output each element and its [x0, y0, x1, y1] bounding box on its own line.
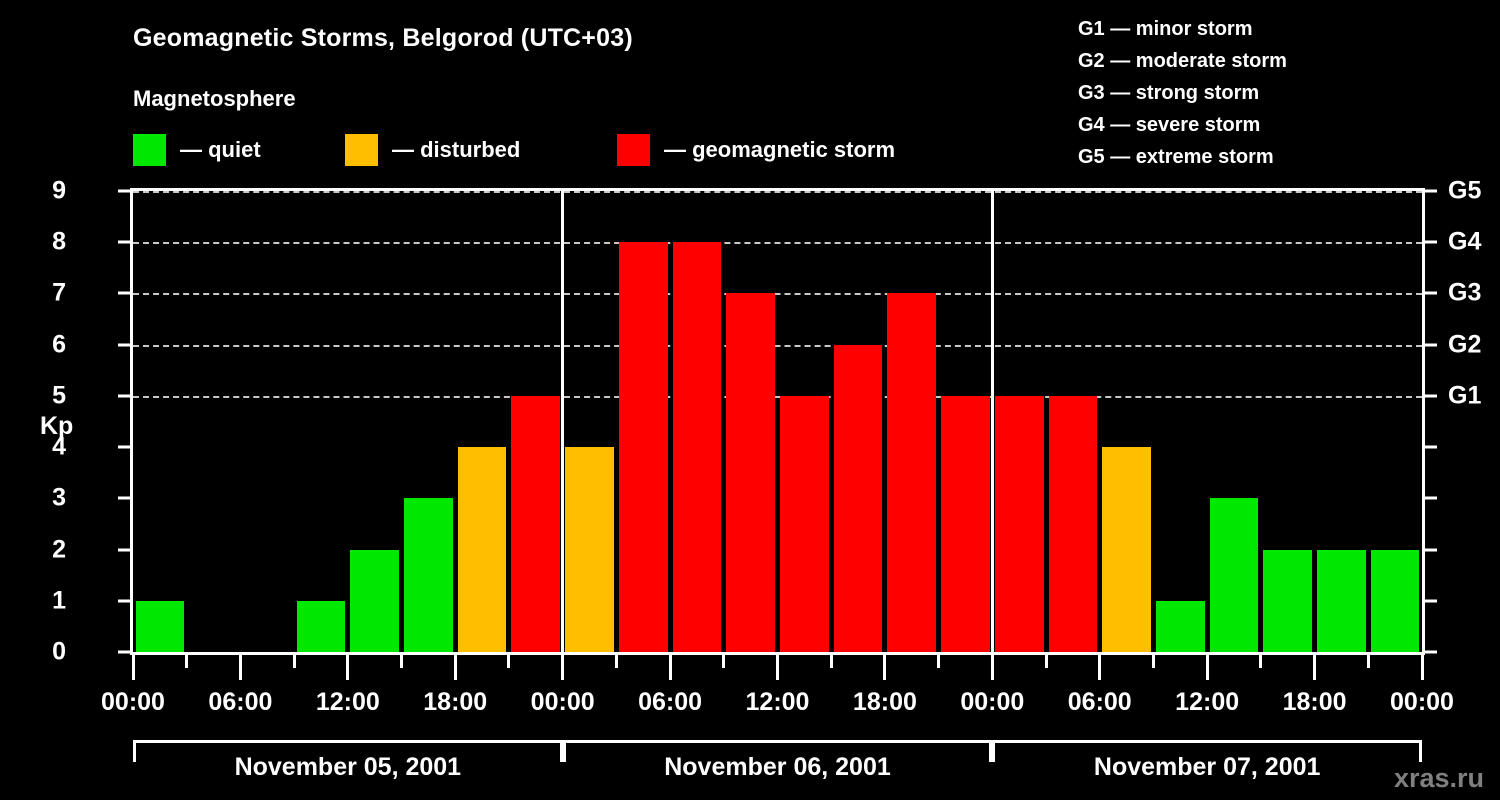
legend-swatch-disturbed [345, 134, 378, 166]
day-label: November 06, 2001 [664, 753, 891, 782]
y-tick-mark-5 [118, 394, 130, 397]
bar [1102, 447, 1151, 652]
day-divider [991, 191, 994, 652]
x-tick [561, 655, 564, 680]
x-tick-label: 18:00 [423, 688, 487, 717]
bar [995, 396, 1044, 652]
page-title: Geomagnetic Storms, Belgorod (UTC+03) [133, 24, 633, 53]
plot-inner [133, 191, 1422, 652]
x-tick [669, 655, 672, 680]
x-tick [1313, 655, 1316, 680]
bar [834, 345, 883, 652]
x-tick [293, 655, 296, 668]
y-tick-mark-1 [118, 599, 130, 602]
g-scale-legend: G1 — minor stormG2 — moderate stormG3 — … [1078, 13, 1287, 173]
g-scale-row-3: G3 — strong storm [1078, 77, 1287, 109]
x-tick-label: 00:00 [531, 688, 595, 717]
bar [136, 601, 185, 652]
gridline-kp-7 [133, 293, 1422, 295]
x-tick [185, 655, 188, 668]
y-tick-label-3: 3 [26, 484, 66, 513]
x-tick [1045, 655, 1048, 668]
x-tick [1098, 655, 1101, 680]
x-tick [1259, 655, 1262, 668]
bar [1263, 550, 1312, 652]
legend-swatch-quiet [133, 134, 166, 166]
x-tick [830, 655, 833, 668]
g-tick-mark-G5 [1425, 190, 1437, 193]
right-minor-tick-kp-2 [1425, 548, 1437, 551]
y-tick-mark-9 [118, 190, 130, 193]
y-tick-mark-7 [118, 292, 130, 295]
y-tick-label-1: 1 [26, 586, 66, 615]
g-tick-mark-G3 [1425, 292, 1437, 295]
g-tick-mark-G4 [1425, 241, 1437, 244]
x-tick-label: 06:00 [1068, 688, 1132, 717]
plot-area [130, 188, 1425, 655]
y-tick-mark-0 [118, 651, 130, 654]
x-tick [776, 655, 779, 680]
magnetosphere-label: Magnetosphere [133, 86, 296, 112]
day-label: November 07, 2001 [1094, 753, 1321, 782]
watermark: xras.ru [1394, 763, 1484, 794]
g-tick-label-G1: G1 [1448, 381, 1481, 410]
x-tick-label: 00:00 [1390, 688, 1454, 717]
x-tick [400, 655, 403, 668]
gridline-kp-8 [133, 242, 1422, 244]
legend-entry-quiet: — quiet [133, 134, 261, 166]
g-tick-mark-G1 [1425, 394, 1437, 397]
gridline-kp-5 [133, 396, 1422, 398]
bar [1317, 550, 1366, 652]
bar [619, 242, 668, 652]
bar [887, 293, 936, 652]
y-tick-mark-8 [118, 241, 130, 244]
g-tick-label-G4: G4 [1448, 228, 1481, 257]
legend-label-disturbed: — disturbed [392, 137, 520, 163]
x-tick-label: 12:00 [746, 688, 810, 717]
day-label: November 05, 2001 [235, 753, 462, 782]
x-tick [615, 655, 618, 668]
x-tick [346, 655, 349, 680]
y-tick-label-6: 6 [26, 330, 66, 359]
bar [1049, 396, 1098, 652]
legend-label-quiet: — quiet [180, 137, 261, 163]
g-scale-row-2: G2 — moderate storm [1078, 45, 1287, 77]
y-tick-label-2: 2 [26, 535, 66, 564]
bar [1210, 498, 1259, 652]
y-tick-label-9: 9 [26, 177, 66, 206]
bar [404, 498, 453, 652]
x-tick [883, 655, 886, 680]
bar [511, 396, 560, 652]
bar [673, 242, 722, 652]
x-tick [1367, 655, 1370, 668]
y-tick-label-8: 8 [26, 228, 66, 257]
legend-swatch-geomagnetic-storm [617, 134, 650, 166]
right-minor-tick-kp-4 [1425, 446, 1437, 449]
g-tick-mark-G2 [1425, 343, 1437, 346]
gridline-kp-6 [133, 345, 1422, 347]
x-tick [1152, 655, 1155, 668]
y-tick-label-0: 0 [26, 638, 66, 667]
x-tick-label: 12:00 [316, 688, 380, 717]
g-tick-label-G5: G5 [1448, 177, 1481, 206]
x-tick-label: 00:00 [101, 688, 165, 717]
bar [780, 396, 829, 652]
legend-entry-disturbed: — disturbed [345, 134, 520, 166]
x-tick [132, 655, 135, 680]
x-tick [239, 655, 242, 680]
g-scale-row-4: G4 — severe storm [1078, 109, 1287, 141]
x-tick [1206, 655, 1209, 680]
x-tick [1421, 655, 1424, 680]
bar [350, 550, 399, 652]
x-tick-label: 06:00 [638, 688, 702, 717]
right-minor-tick-kp-1 [1425, 599, 1437, 602]
bar [941, 396, 990, 652]
color-legend: — quiet— disturbed— geomagnetic storm [133, 134, 1033, 166]
g-tick-label-G2: G2 [1448, 330, 1481, 359]
day-divider [561, 191, 564, 652]
x-tick-label: 06:00 [208, 688, 272, 717]
g-scale-row-5: G5 — extreme storm [1078, 141, 1287, 173]
y-tick-mark-4 [118, 446, 130, 449]
x-tick [722, 655, 725, 668]
g-tick-label-G3: G3 [1448, 279, 1481, 308]
y-tick-mark-2 [118, 548, 130, 551]
x-tick-label: 12:00 [1175, 688, 1239, 717]
x-tick [454, 655, 457, 680]
x-tick-label: 18:00 [853, 688, 917, 717]
legend-label-geomagnetic-storm: — geomagnetic storm [664, 137, 895, 163]
gridline-kp-9 [133, 191, 1422, 193]
x-tick [937, 655, 940, 668]
bar [565, 447, 614, 652]
y-tick-label-4: 4 [26, 433, 66, 462]
y-tick-label-7: 7 [26, 279, 66, 308]
bar [1156, 601, 1205, 652]
right-minor-tick-kp-3 [1425, 497, 1437, 500]
right-minor-tick-kp-0 [1425, 651, 1437, 654]
x-tick [991, 655, 994, 680]
x-tick-label: 00:00 [960, 688, 1024, 717]
x-tick-label: 18:00 [1283, 688, 1347, 717]
bar [726, 293, 775, 652]
bar [1371, 550, 1420, 652]
legend-entry-geomagnetic-storm: — geomagnetic storm [617, 134, 895, 166]
x-tick [507, 655, 510, 668]
bar [297, 601, 346, 652]
y-tick-mark-3 [118, 497, 130, 500]
g-scale-row-1: G1 — minor storm [1078, 13, 1287, 45]
bar [458, 447, 507, 652]
y-tick-mark-6 [118, 343, 130, 346]
y-tick-label-5: 5 [26, 381, 66, 410]
